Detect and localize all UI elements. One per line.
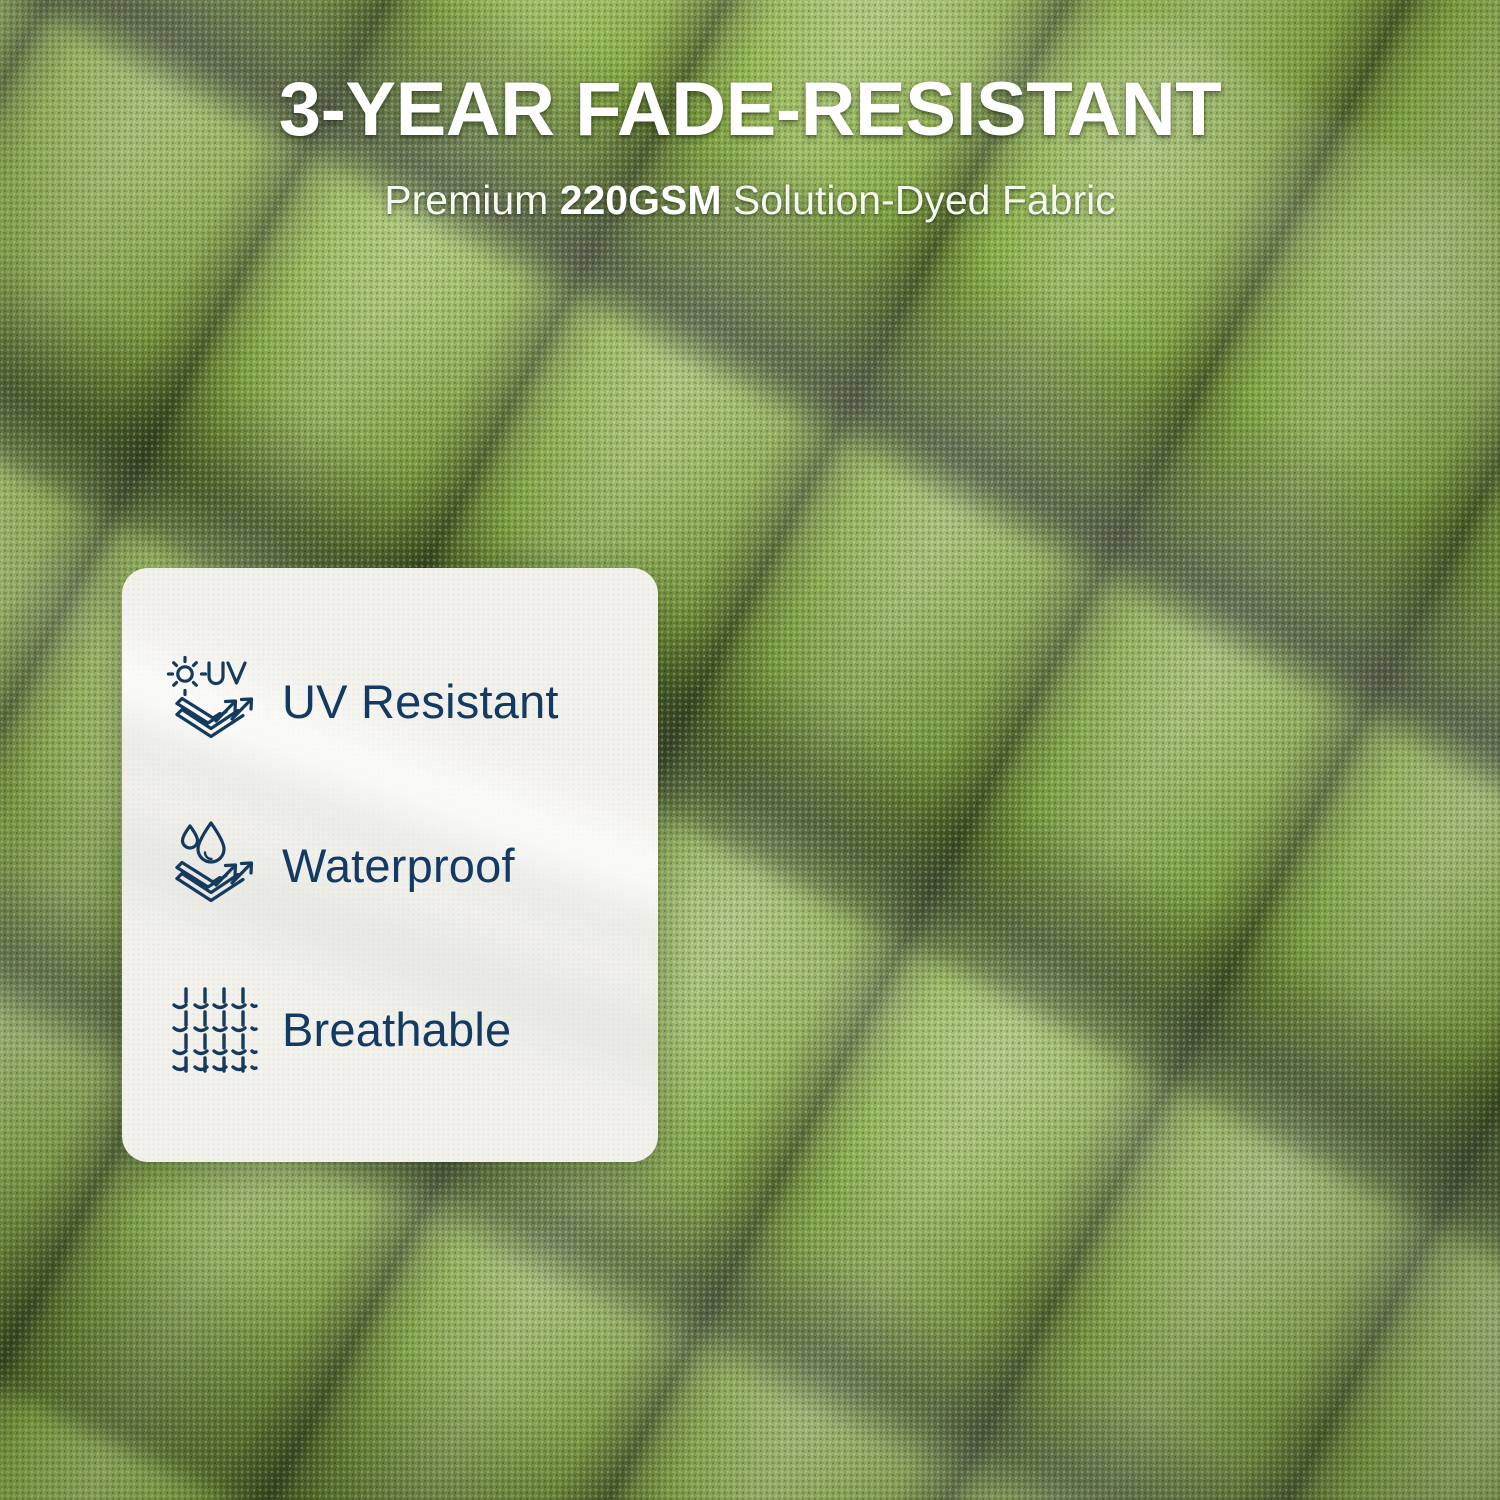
subheadline-highlight: 220GSM [560,177,722,223]
feature-item-uv-resistant: UV Resistant [162,619,658,783]
headline: 3-YEAR FADE-RESISTANT [0,72,1500,148]
feature-list: UV Resistant [162,619,658,1111]
waterproof-icon [162,813,266,917]
feature-label: Waterproof [282,838,515,893]
feature-item-breathable: Breathable [162,947,658,1111]
uv-resistant-icon [162,649,266,753]
subheadline: Premium 220GSM Solution-Dyed Fabric [0,178,1500,223]
product-feature-banner: 3-YEAR FADE-RESISTANT Premium 220GSM Sol… [0,0,1500,1500]
headline-block: 3-YEAR FADE-RESISTANT Premium 220GSM Sol… [0,0,1500,223]
feature-label: UV Resistant [282,674,559,729]
subheadline-suffix: Solution-Dyed Fabric [722,177,1116,223]
feature-card: UV Resistant [122,568,658,1162]
breathable-icon [162,977,266,1081]
subheadline-prefix: Premium [384,177,559,223]
feature-item-waterproof: Waterproof [162,783,658,947]
feature-label: Breathable [282,1002,511,1057]
